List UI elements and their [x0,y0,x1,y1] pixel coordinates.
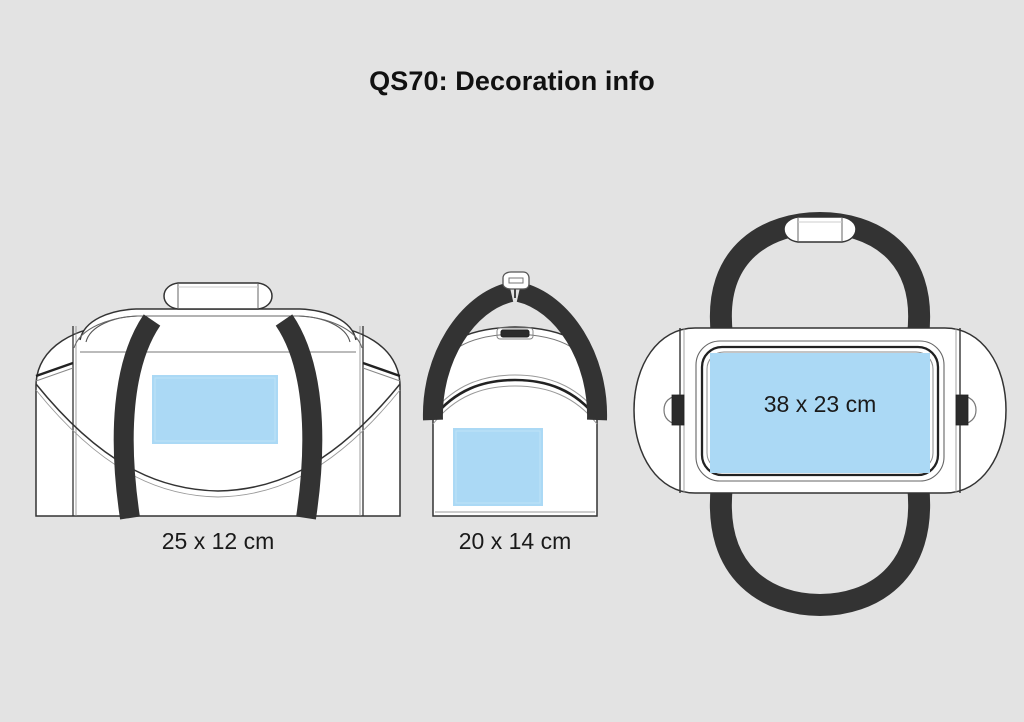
print-area-side [453,428,543,506]
side-attachment-tab-right [956,395,968,425]
top-pull-tab [501,330,529,337]
handle-grip [784,217,856,242]
print-area-top [710,353,930,473]
bag-top-view-figure [620,215,1020,605]
bag-side-view-figure [415,268,615,528]
bag-top-lid [80,309,356,340]
decoration-info-sheet: QS70: Decoration info [0,0,1024,722]
page-title: QS70: Decoration info [0,66,1024,97]
side-attachment-tab-left [672,395,684,425]
bag-top-illustration [634,217,1006,605]
bag-front-view-figure [18,268,418,528]
print-area-front [152,375,278,444]
print-area-label-side: 20 x 14 cm [415,528,615,555]
print-area-label-front: 25 x 12 cm [18,528,418,555]
bag-side-illustration [433,272,597,516]
handle-loop-bottom [721,485,919,605]
bag-front-illustration [36,283,400,518]
top-clip-inner [509,278,523,283]
